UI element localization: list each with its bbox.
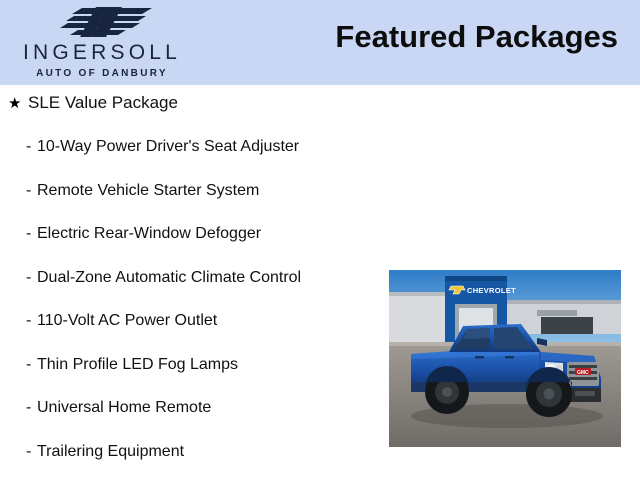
list-item: -Dual-Zone Automatic Climate Control <box>26 270 376 314</box>
slide-content: ★ SLE Value Package -10-Way Power Driver… <box>0 85 640 480</box>
list-item-label: 110-Volt AC Power Outlet <box>37 312 217 329</box>
page-title: Featured Packages <box>335 19 618 55</box>
list-item-label: Dual-Zone Automatic Climate Control <box>37 269 301 286</box>
feature-list: -10-Way Power Driver's Seat Adjuster -Re… <box>26 139 376 487</box>
list-item-dash: - <box>26 444 37 460</box>
page-header: INGERSOLL AUTO OF DANBURY Featured Packa… <box>0 0 640 85</box>
list-item: -Trailering Equipment <box>26 444 376 487</box>
vehicle-photo: CHEVROLET <box>389 270 621 447</box>
star-bullet-icon: ★ <box>8 96 28 111</box>
list-item: -Universal Home Remote <box>26 400 376 444</box>
package-heading: ★ SLE Value Package <box>8 94 178 111</box>
list-item-label: Trailering Equipment <box>37 443 184 460</box>
list-item-label: Remote Vehicle Starter System <box>37 182 259 199</box>
dealer-logo: INGERSOLL AUTO OF DANBURY <box>0 2 210 84</box>
ingersoll-wing-emblem-icon <box>48 4 168 40</box>
package-name: SLE Value Package <box>28 94 178 111</box>
list-item-label: Universal Home Remote <box>37 399 211 416</box>
list-item: -Electric Rear-Window Defogger <box>26 226 376 270</box>
svg-text:GMC: GMC <box>577 370 589 376</box>
list-item-dash: - <box>26 313 37 329</box>
dealer-brand-tagline: AUTO OF DANBURY <box>0 69 204 79</box>
list-item: -10-Way Power Driver's Seat Adjuster <box>26 139 376 183</box>
svg-text:CHEVROLET: CHEVROLET <box>467 286 516 295</box>
list-item-label: Electric Rear-Window Defogger <box>37 225 261 242</box>
list-item-label: 10-Way Power Driver's Seat Adjuster <box>37 138 299 155</box>
list-item-label: Thin Profile LED Fog Lamps <box>37 356 238 373</box>
list-item-dash: - <box>26 270 37 286</box>
list-item-dash: - <box>26 226 37 242</box>
list-item: -Thin Profile LED Fog Lamps <box>26 357 376 401</box>
list-item-dash: - <box>26 139 37 155</box>
list-item-dash: - <box>26 400 37 416</box>
dealer-brand-name: INGERSOLL <box>0 42 204 63</box>
list-item: -Remote Vehicle Starter System <box>26 183 376 227</box>
list-item-dash: - <box>26 183 37 199</box>
list-item-dash: - <box>26 357 37 373</box>
list-item: -110-Volt AC Power Outlet <box>26 313 376 357</box>
